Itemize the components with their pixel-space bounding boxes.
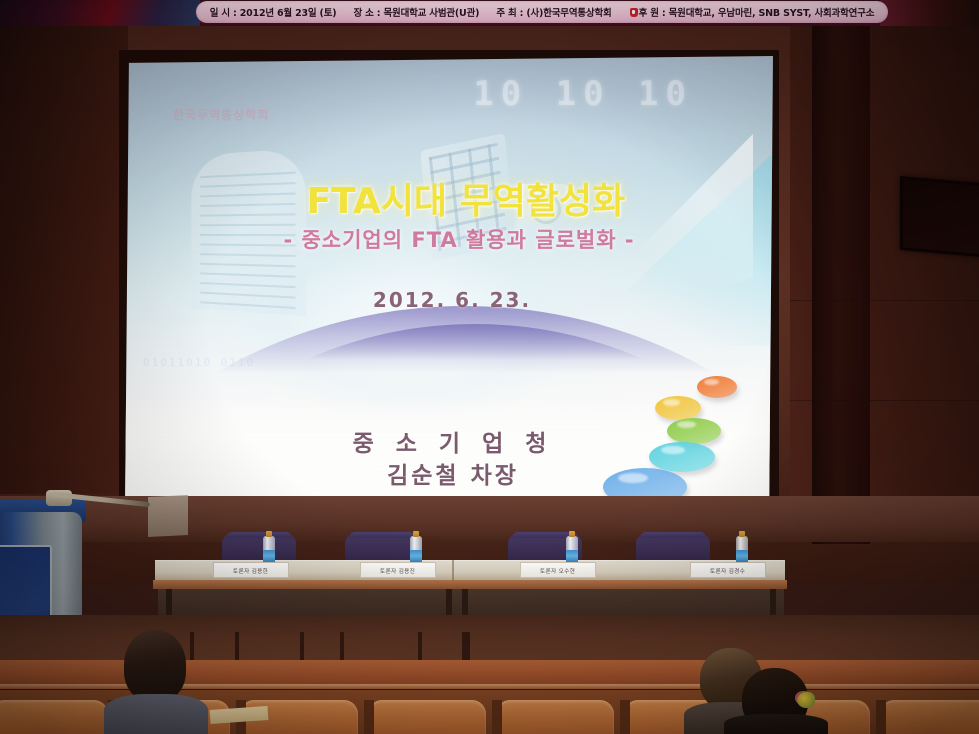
auditorium-seat xyxy=(0,700,108,734)
banner-info-strip: 일 시 : 2012년 6월 23일 (토) 장 소 : 목원대학교 사범관(U… xyxy=(196,1,888,23)
rail-post xyxy=(190,632,194,662)
panel-table-edge xyxy=(153,580,787,589)
slide-subtitle: - 중소기업의 FTA 활용과 글로벌화 - xyxy=(125,224,773,254)
banner-venue: 장 소 : 목원대학교 사범관(U관) xyxy=(353,8,479,19)
pebble-yellow xyxy=(655,396,701,420)
audience-shoulders xyxy=(104,694,208,734)
rail-post xyxy=(300,632,304,662)
wall-monitor-icon xyxy=(900,176,979,258)
auditorium-photo: 일 시 : 2012년 6월 23일 (토) 장 소 : 목원대학교 사범관(U… xyxy=(0,0,979,734)
rail-post xyxy=(235,632,239,662)
pebble-cyan xyxy=(649,442,715,472)
auditorium-seat xyxy=(880,700,979,734)
projection-screen: 10 10 10 한국무역통상학회 01011010 0110 10100101… xyxy=(125,56,773,516)
rail-post xyxy=(418,632,422,662)
nameplate-label: 토론자 김경수 xyxy=(710,566,745,575)
nameplate-label: 토론자 김용한 xyxy=(233,566,268,575)
wall-seam xyxy=(790,400,979,401)
banner-date: 일 시 : 2012년 6월 23일 (토) xyxy=(210,8,337,19)
auditorium-seat xyxy=(496,700,614,734)
event-banner: 일 시 : 2012년 6월 23일 (토) 장 소 : 목원대학교 사범관(U… xyxy=(0,0,979,26)
seat-divider xyxy=(492,700,502,734)
wall-pillar xyxy=(812,24,870,544)
seat-divider xyxy=(364,700,374,734)
left-wall-panel xyxy=(0,24,128,494)
pebble-orange xyxy=(697,376,737,398)
banner-sponsor: 후 원 : 목원대학교, 우남마린, SNB SYST, 사회과학연구소 xyxy=(629,8,875,19)
banner-host: 주 최 : (사)한국무역통상학회 xyxy=(496,8,611,19)
pebble-green xyxy=(667,418,721,444)
rail-post xyxy=(466,632,470,662)
slide-date: 2012. 6. 23. xyxy=(125,288,773,312)
seat-divider xyxy=(876,700,886,734)
audience-shoulders xyxy=(724,714,828,734)
nameplate-label: 토론자 김용진 xyxy=(380,566,415,575)
auditorium-seat xyxy=(368,700,486,734)
slide-pebble-graphic xyxy=(595,374,755,514)
nameplate: 토론자 김용한 xyxy=(213,562,289,578)
stage-step xyxy=(148,495,188,537)
seat-divider xyxy=(620,700,630,734)
nameplate: 토론자 김용진 xyxy=(360,562,436,578)
banner-text-line: 일 시 : 2012년 6월 23일 (토) 장 소 : 목원대학교 사범관(U… xyxy=(203,5,882,19)
slide-title: FTA시대 무역활성화 xyxy=(125,172,773,224)
nameplate: 토론자 오수현 xyxy=(520,562,596,578)
slide-faint-logo: 한국무역통상학회 xyxy=(173,106,269,123)
corsage-icon xyxy=(797,692,815,708)
presentation-slide: 10 10 10 한국무역통상학회 01011010 0110 10100101… xyxy=(125,56,773,516)
wall-seam xyxy=(790,300,979,301)
nameplate-label: 토론자 오수현 xyxy=(540,566,575,575)
banner-left-decoration xyxy=(0,0,200,26)
banner-sponsor-text: 후 원 : 목원대학교, 우남마린, SNB SYST, 사회과학연구소 xyxy=(639,8,875,19)
university-shield-icon xyxy=(630,8,638,17)
banner-right-decoration xyxy=(880,0,979,26)
rail-post xyxy=(340,632,344,662)
audience-head xyxy=(124,630,186,702)
nameplate: 토론자 김경수 xyxy=(690,562,766,578)
